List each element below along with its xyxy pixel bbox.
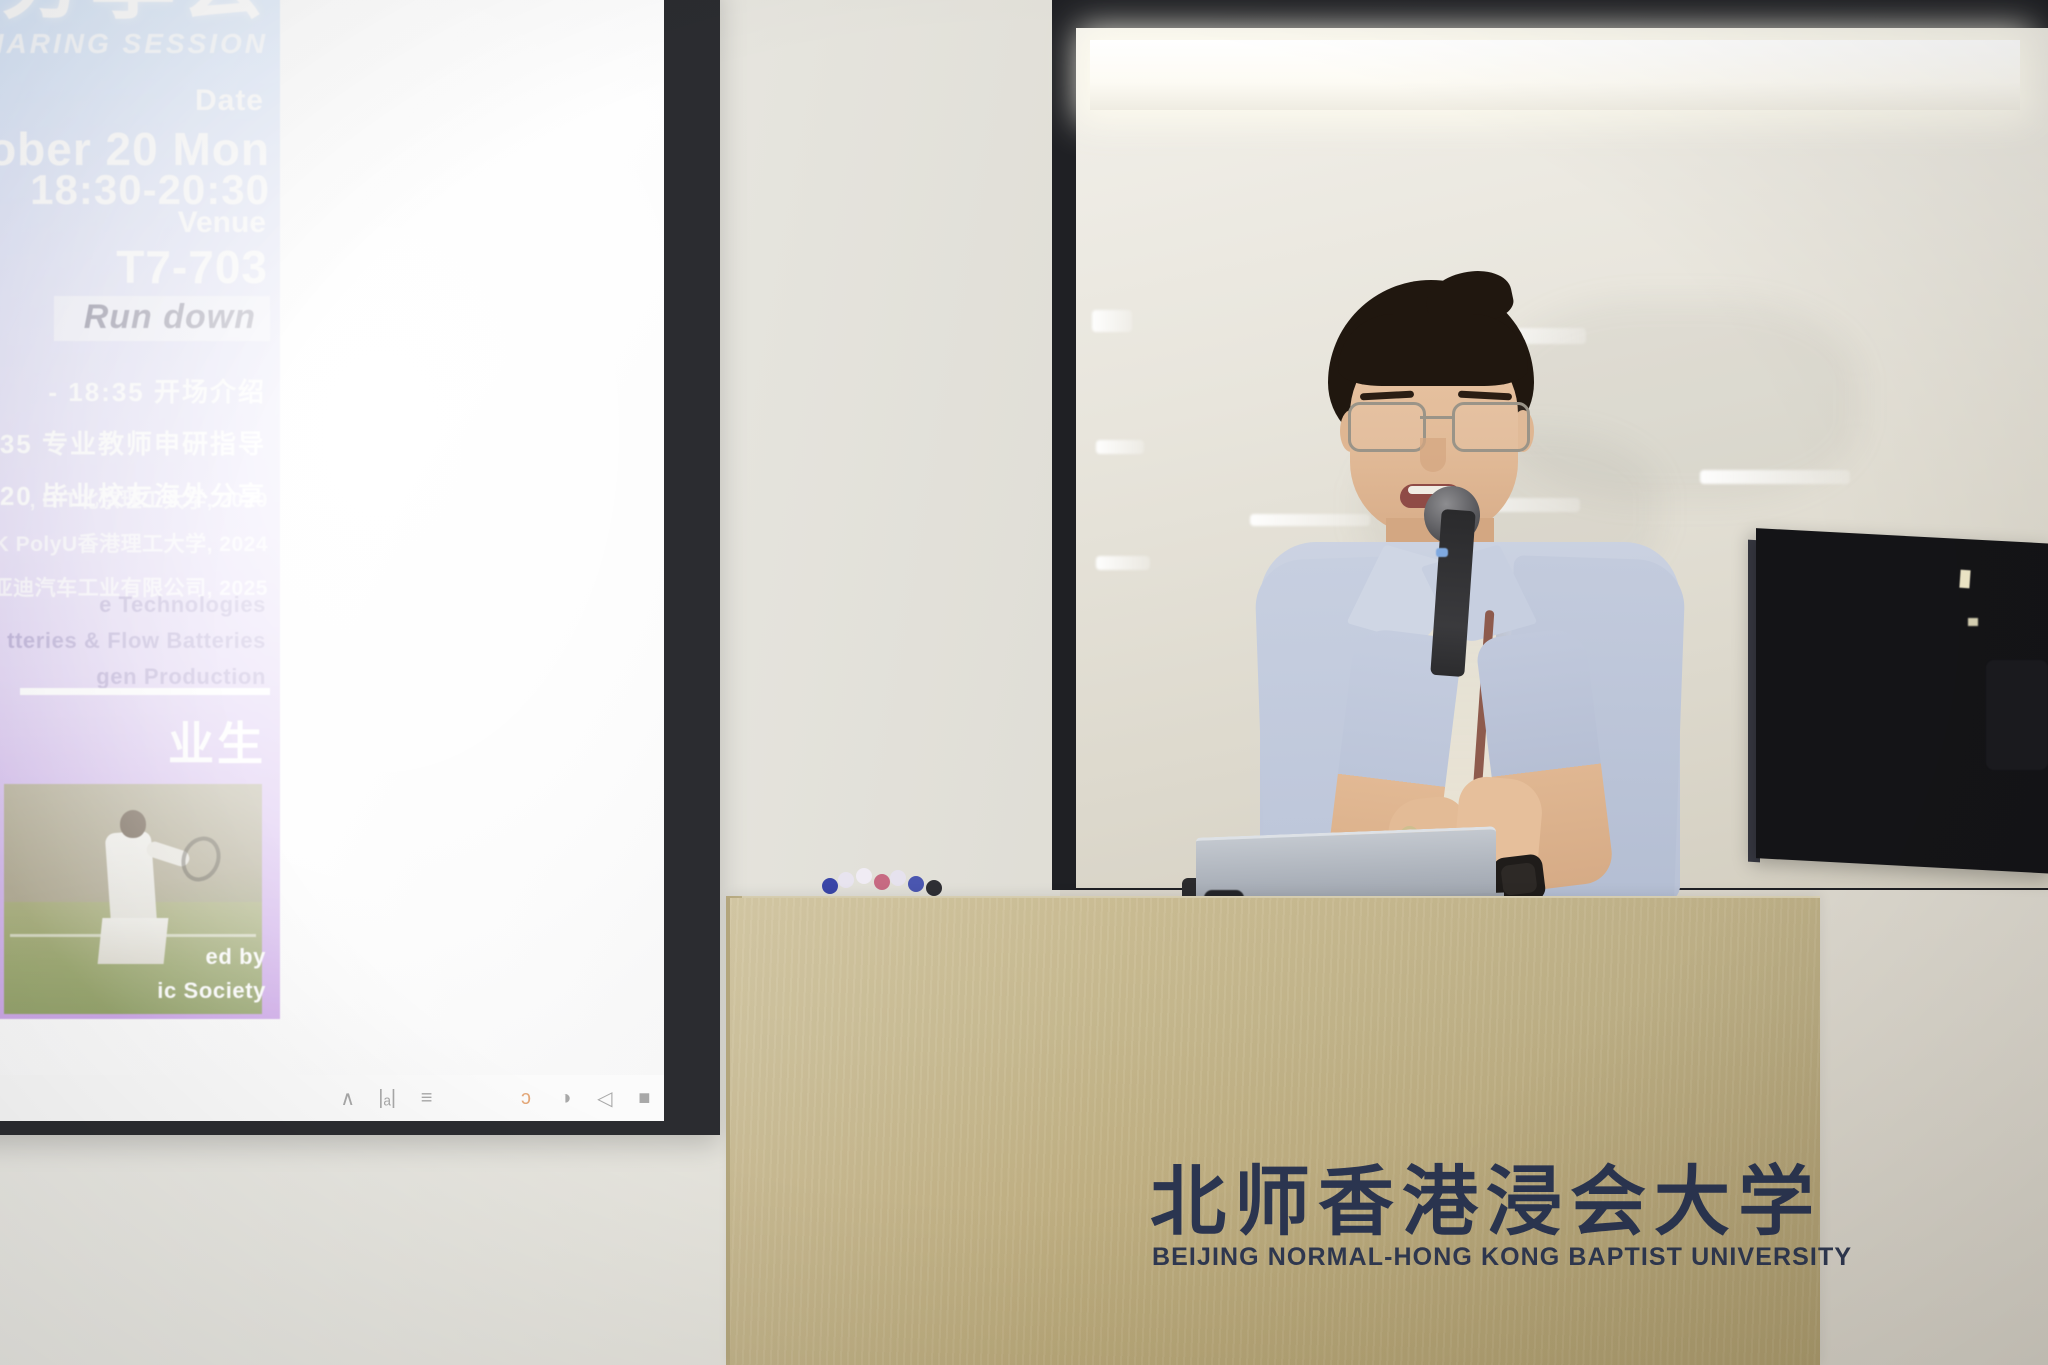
- whiteboard-glint: [1700, 470, 1850, 484]
- slide-rundown-tag: Run down: [54, 296, 270, 341]
- footer-line: ic Society: [157, 978, 266, 1004]
- desk-flower: [856, 868, 872, 884]
- monitor-stand: [1986, 660, 2048, 770]
- whiteboard-light-reflection: [1090, 40, 2020, 110]
- podium-university-name-en: BEIJING NORMAL-HONG KONG BAPTIST UNIVERS…: [1152, 1243, 1952, 1272]
- rundown-item: - 18:35 开场介绍: [0, 372, 266, 409]
- app-orange-icon[interactable]: ɔ: [506, 1075, 545, 1121]
- interest-line: gen Production: [7, 664, 266, 690]
- whiteboard-glint: [1096, 556, 1150, 570]
- slide-interests-block: e Technologies tteries & Flow Batteries …: [7, 592, 266, 700]
- slide-grad-label: 业生: [168, 708, 266, 774]
- whiteboard-glint: [1096, 440, 1144, 454]
- speaker-nose: [1420, 438, 1446, 472]
- interest-line: e Technologies: [7, 592, 266, 618]
- wifi-icon[interactable]: ◑: [546, 1075, 585, 1121]
- battery-icon[interactable]: ■: [625, 1075, 664, 1121]
- desk-flower: [874, 874, 890, 890]
- glasses-lens-right: [1452, 402, 1530, 452]
- desk-flower: [838, 872, 854, 888]
- bio-line: ng, HK PolyU香港理工大学, 2024: [0, 528, 268, 558]
- footer-line: ed by: [157, 944, 266, 970]
- slide-title-cn: 造分享会: [0, 0, 270, 26]
- desk-flower: [926, 880, 942, 896]
- lecture-hall-scene: 造分享会 ALUMNI SHARING SESSION Date October…: [0, 0, 2048, 1365]
- photo-racket-icon: [175, 831, 227, 888]
- podium-panel: [730, 898, 1820, 1365]
- slide-date-label: Date: [0, 84, 264, 118]
- projected-taskbar[interactable]: ∧ |ₐ| ≡ ɔ ◑ ◁ ■: [0, 1075, 664, 1121]
- slide-footer-block: ed by ic Society: [157, 944, 266, 1012]
- chevron-up-icon[interactable]: ∧: [328, 1075, 367, 1121]
- rundown-item: - 19:35 专业教师申研指导: [0, 424, 266, 461]
- bio-line: , BIT北京理工大学, 2020: [0, 484, 268, 514]
- glasses-bridge: [1420, 416, 1452, 419]
- slide-title-en: ALUMNI SHARING SESSION: [0, 28, 268, 60]
- slide-venue-value: T7-703: [0, 240, 268, 294]
- desk-flower: [908, 876, 924, 892]
- monitor-reflection: [1968, 618, 1978, 626]
- slide-venue-label: Venue: [0, 206, 266, 240]
- interest-line: tteries & Flow Batteries: [7, 628, 266, 654]
- settings-sliders-icon[interactable]: ≡: [407, 1075, 446, 1121]
- signal-bars-icon[interactable]: |ₐ|: [367, 1075, 406, 1121]
- slide-rundown-label: Run down: [84, 298, 256, 336]
- speaker-fringe: [1338, 314, 1528, 386]
- glasses-lens-left: [1348, 402, 1426, 452]
- microphone-led: [1436, 548, 1448, 557]
- presentation-slide: 造分享会 ALUMNI SHARING SESSION Date October…: [0, 0, 280, 1019]
- podium-university-name-cn: 北师香港浸会大学: [1150, 1140, 1950, 1250]
- slide-divider: [20, 688, 270, 695]
- volume-icon[interactable]: ◁: [585, 1075, 624, 1121]
- projection-screen-frame: 造分享会 ALUMNI SHARING SESSION Date October…: [0, 0, 720, 1135]
- speaker: [1240, 280, 1700, 900]
- monitor-reflection: [1959, 570, 1970, 589]
- whiteboard-glint: [1092, 310, 1132, 332]
- photo-player-head: [120, 810, 146, 838]
- desk-flower: [890, 870, 906, 886]
- desk-flower: [822, 878, 838, 894]
